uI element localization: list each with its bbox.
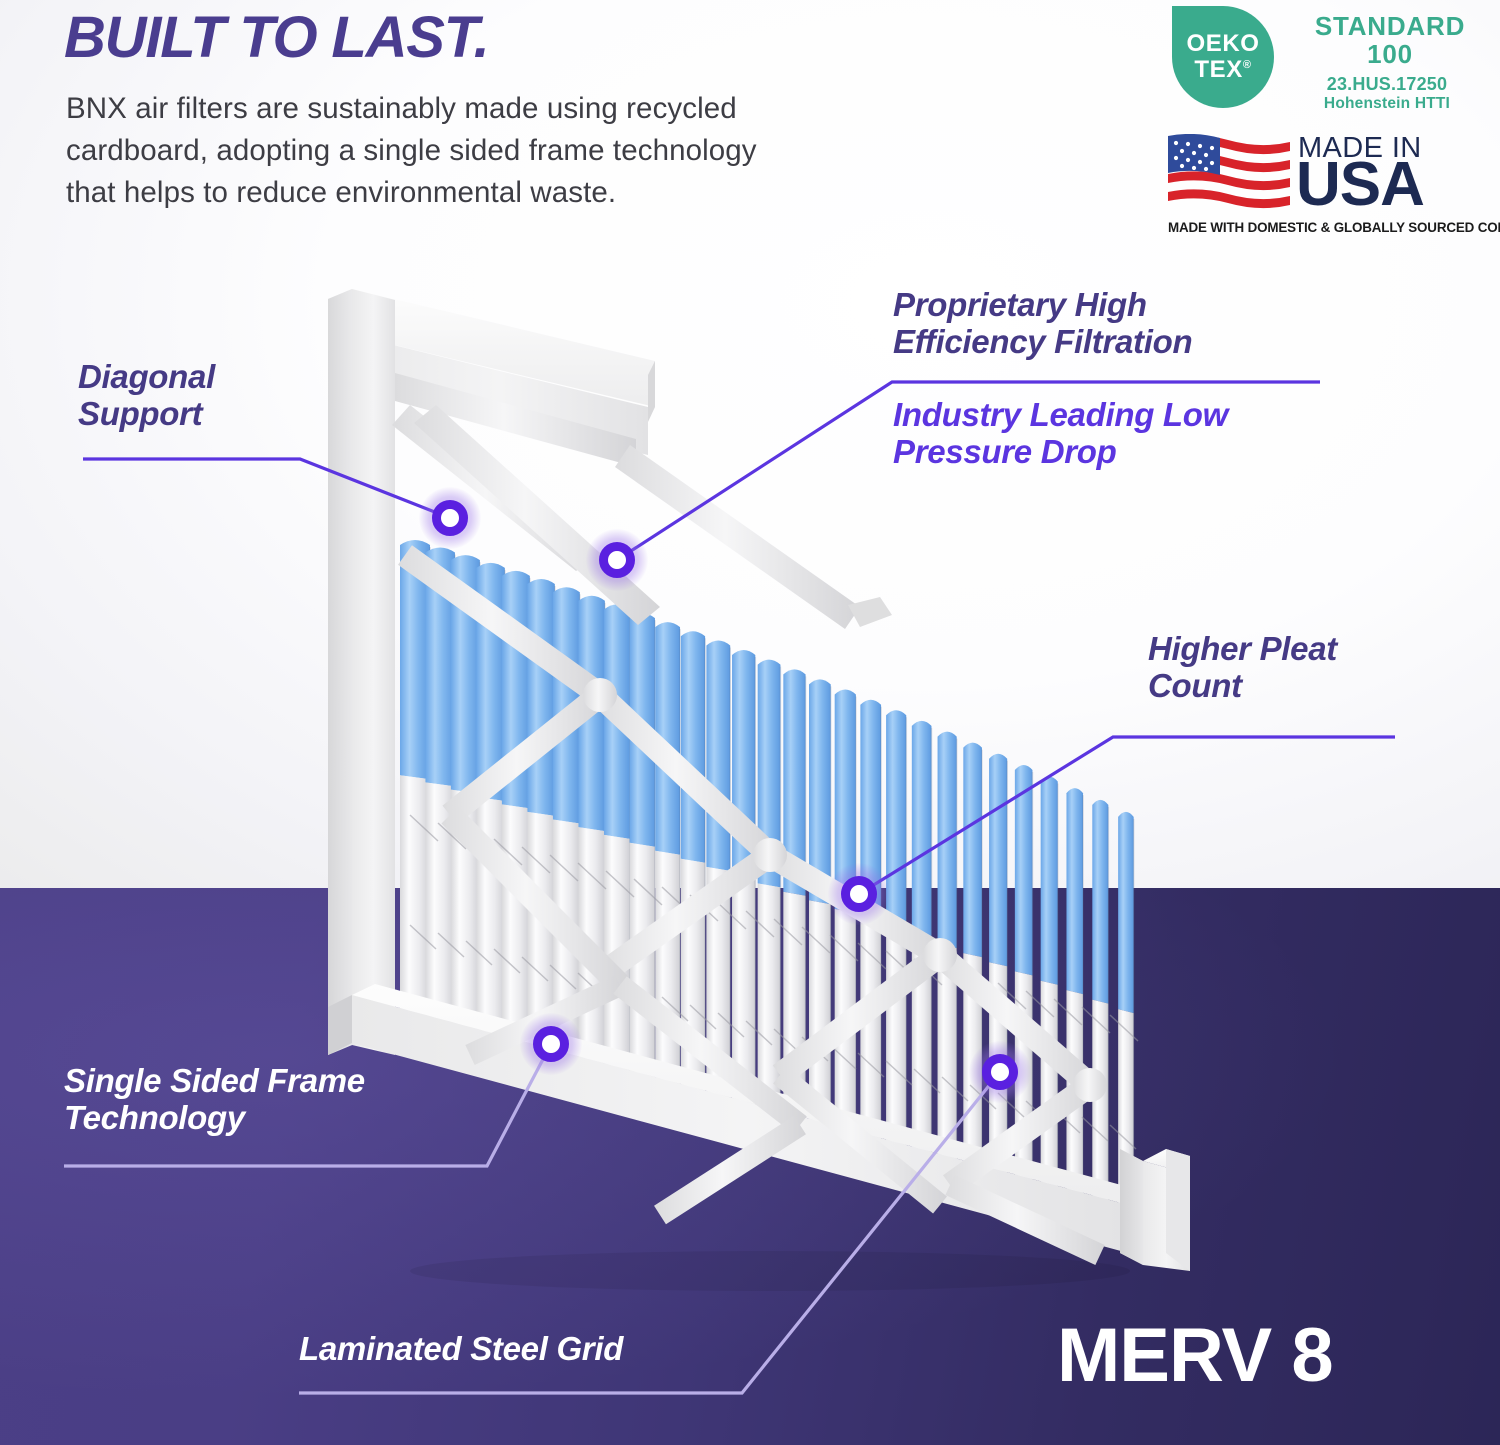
callout-laminated-steel-grid: Laminated Steel Grid xyxy=(299,1330,623,1367)
callout-label-higher-pleat-count: Higher Pleat Count xyxy=(1148,630,1337,705)
marker-ring-icon xyxy=(533,1026,569,1062)
marker-ring-icon xyxy=(982,1054,1018,1090)
callout-label-laminated-steel-grid: Laminated Steel Grid xyxy=(299,1330,623,1367)
callout-higher-pleat-count: Higher Pleat Count xyxy=(1148,630,1337,705)
marker-pleat-count xyxy=(828,863,890,925)
connector-diagonal-support xyxy=(83,459,450,518)
callout-proprietary-filtration: Proprietary High Efficiency Filtration xyxy=(893,286,1192,361)
marker-frame-technology xyxy=(520,1013,582,1075)
marker-ring-icon xyxy=(841,876,877,912)
callout-label-proprietary-filtration: Proprietary High Efficiency Filtration xyxy=(893,286,1192,361)
marker-diagonal-support xyxy=(419,487,481,549)
marker-ring-icon xyxy=(599,542,635,578)
callout-label-single-sided-frame: Single Sided Frame Technology xyxy=(64,1062,365,1137)
marker-ring-icon xyxy=(432,500,468,536)
callout-label-diagonal-support: Diagonal Support xyxy=(78,358,215,433)
callout-low-pressure-drop: Industry Leading Low Pressure Drop xyxy=(893,396,1228,471)
callout-label-low-pressure-drop: Industry Leading Low Pressure Drop xyxy=(893,396,1228,471)
callout-single-sided-frame: Single Sided Frame Technology xyxy=(64,1062,365,1137)
infographic-canvas: BUILT TO LAST. BNX air filters are susta… xyxy=(0,0,1500,1445)
marker-filtration xyxy=(586,529,648,591)
callout-diagonal-support: Diagonal Support xyxy=(78,358,215,433)
connector-pleat-count xyxy=(859,737,1395,894)
callout-connector-lines xyxy=(0,0,1500,1445)
marker-steel-grid xyxy=(969,1041,1031,1103)
merv-rating-badge: MERV 8 xyxy=(1057,1318,1333,1394)
